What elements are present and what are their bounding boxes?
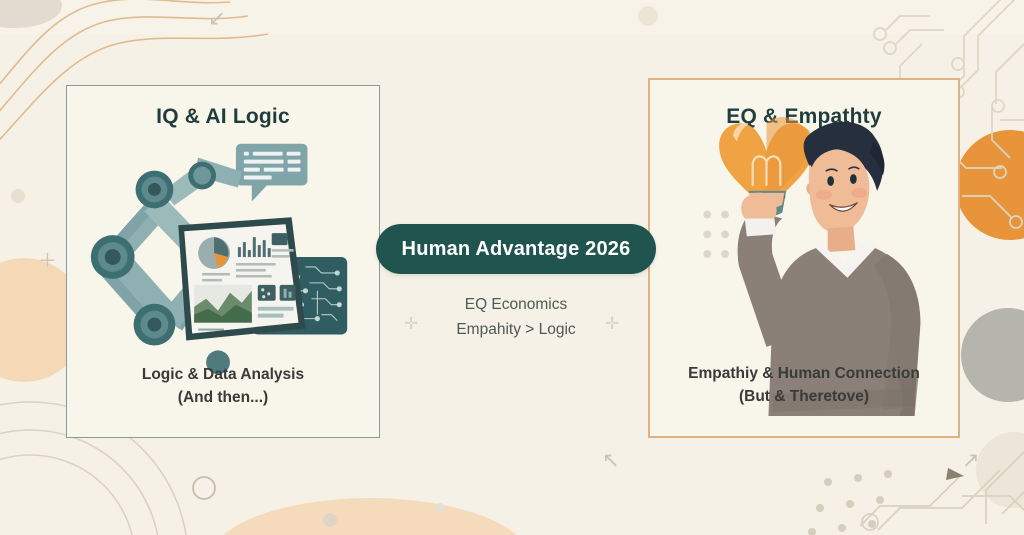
- gray-circle-decoration: [961, 308, 1024, 402]
- smudge-decoration: [0, 0, 62, 28]
- panel-iq-ai-logic[interactable]: IQ & AI Logic: [66, 85, 380, 438]
- panel-right-title: EQ & Empathty: [650, 105, 958, 129]
- arrow-up-left-icon: ↖: [602, 450, 620, 471]
- dot-grid-icon: [703, 211, 729, 258]
- panel-left-title: IQ & AI Logic: [67, 105, 379, 129]
- plus-mark-icon: ＋: [38, 252, 57, 271]
- heart-lightbulb-icon: [719, 117, 814, 216]
- panel-left-caption-line1: Logic & Data Analysis: [142, 366, 304, 383]
- robot-arm-icon: [91, 158, 242, 375]
- pale-circle-decoration: [976, 432, 1024, 508]
- center-caption: EQ Economics Empahity > Logic: [396, 292, 636, 342]
- circuit-chip-icon: [252, 257, 347, 335]
- circuit-node-bottom-decoration: [862, 514, 878, 530]
- center-caption-line1: EQ Economics: [396, 292, 636, 317]
- panel-left-caption-line2: (And then...): [178, 389, 268, 406]
- panel-right-caption-line2: (But & Theretove): [739, 388, 869, 405]
- pale-dot-decoration: [11, 189, 25, 203]
- ring-outline-decoration: [193, 477, 215, 499]
- human-advantage-badge-label: Human Advantage 2026: [402, 238, 631, 261]
- arrow-up-right-icon: ↗: [962, 450, 980, 471]
- human-advantage-badge[interactable]: Human Advantage 2026: [376, 224, 656, 274]
- sparkle-left-icon: ✛: [404, 315, 418, 332]
- pale-dot-decoration: [638, 6, 658, 26]
- panel-left-caption: Logic & Data Analysis (And then...): [67, 364, 379, 409]
- dot-grid-decoration: [808, 470, 892, 535]
- infographic-canvas: ↙ ↖ ↗ ＋ IQ & AI Logic: [0, 0, 1024, 535]
- chat-bubble-icon: [236, 144, 308, 202]
- panel-right-caption: Empathiy & Human Connection (But & There…: [650, 363, 958, 408]
- arrow-down-left-icon: ↙: [208, 8, 226, 29]
- panel-right-caption-line1: Empathiy & Human Connection: [688, 365, 920, 382]
- tablet-dashboard-icon: [178, 217, 305, 340]
- sparkle-right-icon: ✛: [605, 315, 619, 332]
- circuit-trace-bottom-decoration: [860, 452, 1024, 530]
- orange-circle-decoration: [955, 130, 1024, 240]
- pale-dot-decoration: [435, 503, 445, 513]
- panel-eq-empathy[interactable]: EQ & Empathty: [648, 78, 960, 438]
- dot-decoration: [323, 513, 337, 527]
- peach-blob-decoration: [210, 498, 530, 535]
- center-caption-line2: Empahity > Logic: [396, 317, 636, 342]
